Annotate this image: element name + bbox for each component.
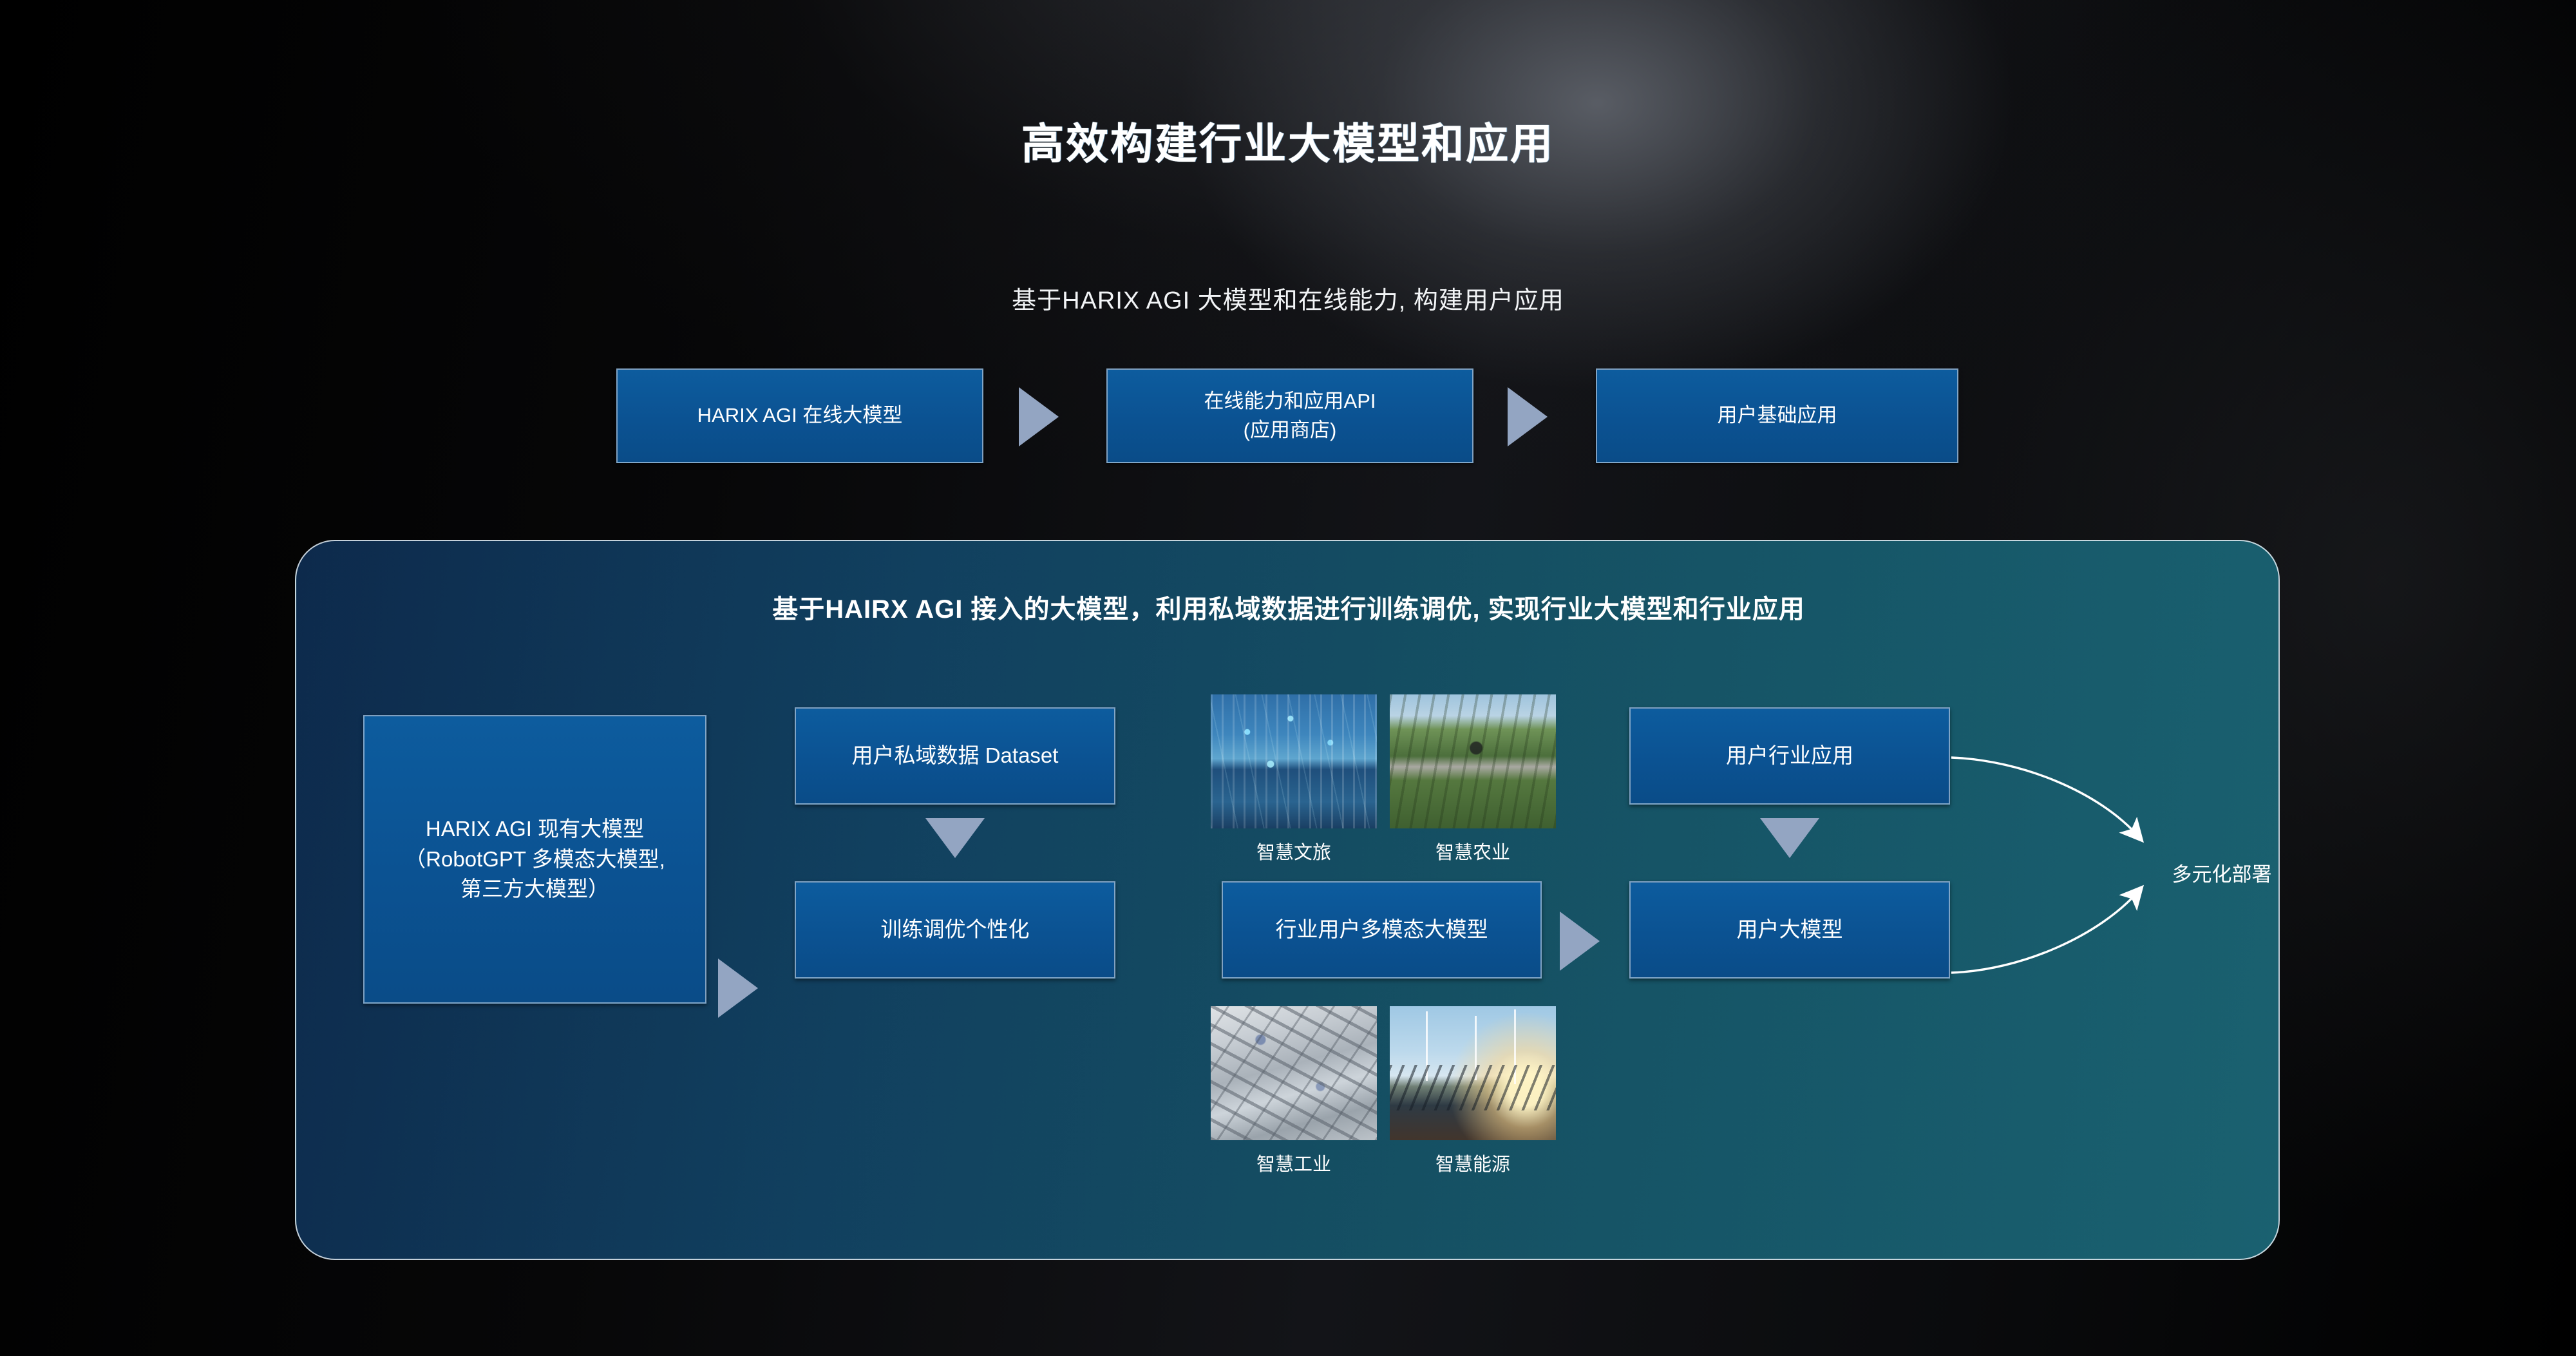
panel-box-industry-app-label: 用户行业应用: [1717, 741, 1862, 771]
thumbnail-caption-smart-tourism: 智慧文旅: [1204, 837, 1383, 864]
panel-box-existing-model-label: HARIX AGI 现有大模型 （RobotGPT 多模态大模型, 第三方大模型…: [395, 814, 674, 905]
panel-box-industry-app[interactable]: 用户行业应用: [1629, 707, 1950, 805]
flow-box-api-store-label: 在线能力和应用API (应用商店): [1195, 387, 1385, 444]
smart-energy-image: [1390, 1006, 1556, 1140]
panel-heading: 基于HAIRX AGI 接入的大模型，利用私域数据进行训练调优, 实现行业大模型…: [296, 588, 2280, 625]
thumbnail-caption-smart-industry: 智慧工业: [1204, 1149, 1383, 1176]
flow-box-online-model-label: HARIX AGI 在线大模型: [688, 401, 912, 430]
page-title: 高效构建行业大模型和应用: [0, 110, 2576, 171]
panel-box-user-model-label: 用户大模型: [1728, 915, 1852, 945]
panel-box-training[interactable]: 训练调优个性化: [795, 881, 1115, 979]
panel-box-industry-model-label: 行业用户多模态大模型: [1267, 915, 1497, 945]
page-subtitle: 基于HARIX AGI 大模型和在线能力, 构建用户应用: [0, 280, 2576, 316]
deployment-label: 多元化部署: [2125, 858, 2280, 887]
flow-box-api-store[interactable]: 在线能力和应用API (应用商店): [1106, 368, 1473, 463]
thumbnail-caption-smart-energy: 智慧能源: [1383, 1149, 1562, 1176]
panel-box-dataset-label: 用户私域数据 Dataset: [843, 741, 1068, 771]
triangle-right-icon: [718, 959, 758, 1018]
flow-box-online-model[interactable]: HARIX AGI 在线大模型: [616, 368, 983, 463]
thumbnail-caption-smart-agriculture: 智慧农业: [1383, 837, 1562, 864]
flow-box-base-app-label: 用户基础应用: [1709, 401, 1846, 430]
triangle-right-icon: [1508, 387, 1548, 446]
panel-box-user-model[interactable]: 用户大模型: [1629, 881, 1950, 979]
panel-box-training-label: 训练调优个性化: [872, 915, 1039, 945]
triangle-down-icon: [925, 818, 985, 858]
flow-box-base-app[interactable]: 用户基础应用: [1596, 368, 1958, 463]
smart-city-image: [1211, 694, 1377, 828]
triangle-right-icon: [1560, 912, 1600, 971]
smart-agriculture-image: [1390, 694, 1556, 828]
triangle-right-icon: [1019, 387, 1059, 446]
panel-box-industry-model[interactable]: 行业用户多模态大模型: [1222, 881, 1542, 979]
triangle-down-icon: [1760, 818, 1819, 858]
curved-arrow-icon: [1945, 696, 2254, 1018]
panel-box-dataset[interactable]: 用户私域数据 Dataset: [795, 707, 1115, 805]
main-panel: 基于HAIRX AGI 接入的大模型，利用私域数据进行训练调优, 实现行业大模型…: [295, 540, 2280, 1260]
smart-industry-image: [1211, 1006, 1377, 1140]
panel-box-existing-model[interactable]: HARIX AGI 现有大模型 （RobotGPT 多模态大模型, 第三方大模型…: [363, 715, 706, 1004]
